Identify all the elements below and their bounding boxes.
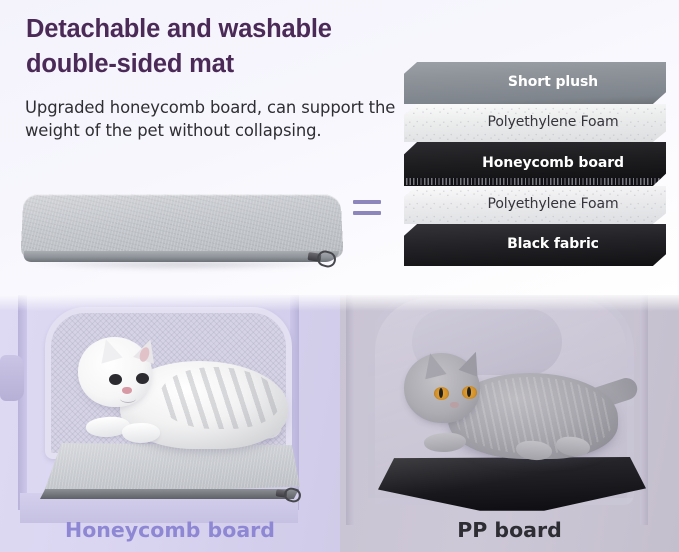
cat-head (78, 337, 152, 407)
layer-slab: Polyethylene Foam (404, 104, 666, 142)
top-section: Detachable and washable double-sided mat… (0, 0, 679, 295)
cat-paw (423, 431, 466, 454)
cat-ear (459, 348, 486, 376)
comparison-panel-honeycomb: Honeycomb board (0, 295, 340, 552)
mat-product-image (12, 188, 352, 280)
layer-label: Polyethylene Foam (487, 196, 618, 212)
caption-pp-board: PP board (340, 518, 679, 542)
comparison-section: Honeycomb board (0, 295, 679, 552)
layer-label: Black fabric (507, 236, 599, 252)
title-line-1: Detachable and washable (26, 15, 332, 43)
layer-label: Honeycomb board (482, 155, 624, 171)
layer-black-fabric: Black fabric (404, 224, 666, 266)
layer-slab: Honeycomb board (404, 142, 666, 186)
layer-slab: Black fabric (404, 224, 666, 266)
title-row-1: Detachable and washable (24, 14, 414, 46)
mat-edge (22, 251, 339, 262)
cat-ear (419, 351, 446, 380)
carrier-post-left (346, 295, 354, 525)
layer-label: Polyethylene Foam (487, 114, 618, 130)
zipper-pull (282, 486, 302, 504)
layer-stack-diagram: Short plush Polyethylene Foam Honeycomb … (404, 62, 672, 278)
cat-nose (450, 402, 459, 408)
zipper-icon (276, 487, 298, 501)
comparison-panel-pp-board: PP board (340, 295, 679, 552)
carrier-handle (0, 355, 24, 401)
layer-honeycomb-board: Honeycomb board (404, 142, 666, 186)
cat-eye (109, 374, 122, 385)
gray-cat-photo (388, 337, 638, 477)
zipper-icon (308, 250, 334, 267)
cat-pupil (467, 387, 471, 397)
mat-texture (20, 195, 343, 259)
equals-icon (353, 200, 381, 222)
cat-eye (136, 373, 149, 384)
layer-polyethylene-foam-top: Polyethylene Foam (404, 104, 666, 142)
cat-mouth (120, 394, 136, 403)
cat-head (404, 353, 480, 423)
cat-nose (122, 387, 132, 394)
layer-slab: Short plush (404, 62, 666, 104)
layer-polyethylene-foam-bottom: Polyethylene Foam (404, 186, 666, 224)
caption-honeycomb-board: Honeycomb board (0, 518, 340, 542)
product-infographic: Detachable and washable double-sided mat… (0, 0, 679, 552)
title-line-2: double-sided mat (26, 50, 234, 78)
cat-pupil (439, 388, 443, 398)
honeycomb-flute-texture (406, 178, 666, 185)
layer-short-plush: Short plush (404, 62, 666, 104)
body-paragraph: Upgraded honeycomb board, can support th… (25, 96, 400, 143)
cat-ear (95, 336, 122, 363)
mat-edge (40, 489, 299, 499)
mat-surface (20, 195, 343, 259)
mat-shadow (28, 262, 338, 271)
white-cat-photo (62, 323, 292, 458)
layer-slab: Polyethylene Foam (404, 186, 666, 224)
title-row-2: double-sided mat (24, 49, 414, 81)
layer-label: Short plush (508, 74, 598, 90)
carrier-post-left (18, 295, 27, 510)
title-block: Detachable and washable double-sided mat (24, 14, 414, 83)
